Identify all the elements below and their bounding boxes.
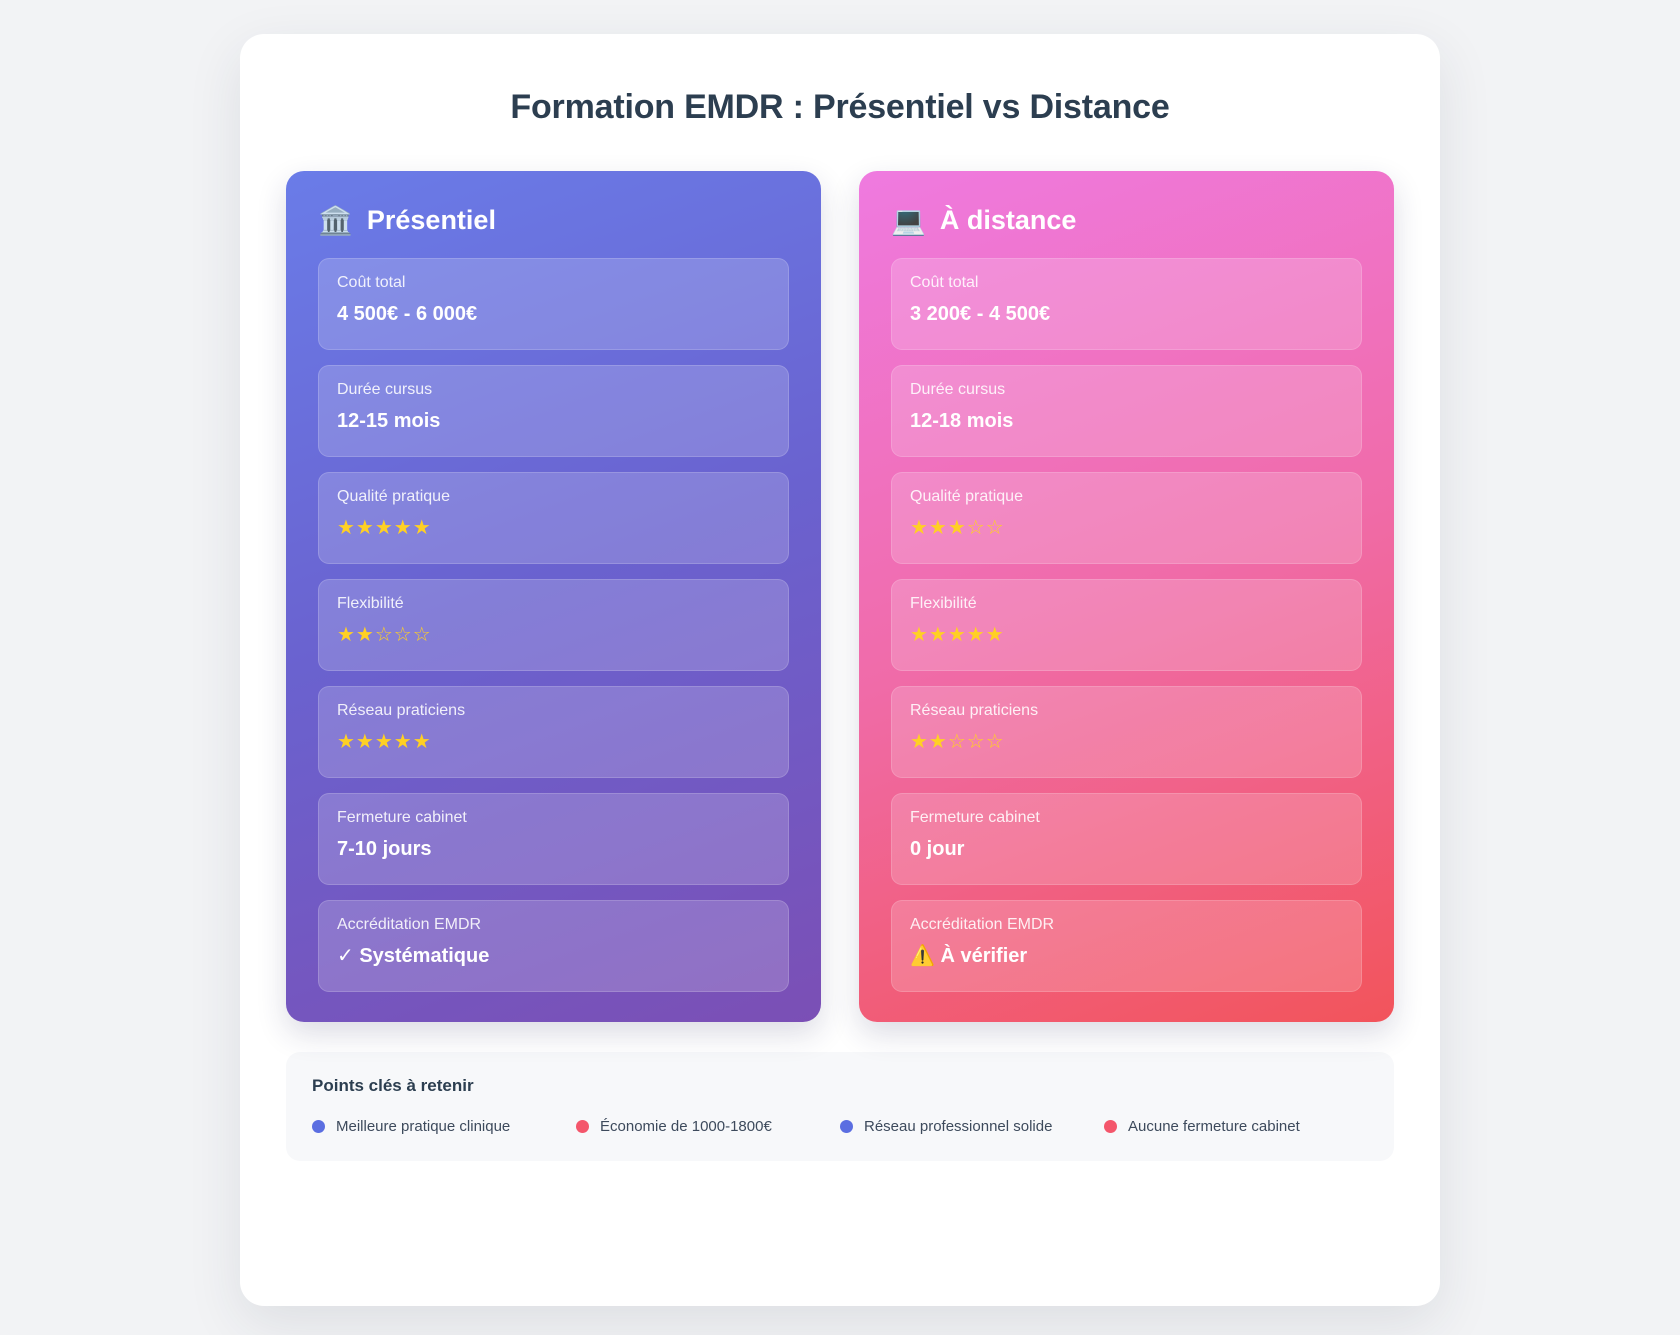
column-header-presentiel: 🏛️ Présentiel	[318, 205, 789, 236]
row-label: Fermeture cabinet	[910, 808, 1343, 827]
star-rating: ★★★★★	[910, 623, 1343, 647]
comparison-columns: 🏛️ Présentiel Coût total 4 500€ - 6 000€…	[240, 127, 1440, 1022]
comparison-card-panel: Formation EMDR : Présentiel vs Distance …	[240, 34, 1440, 1306]
row-accreditation-emdr-presentiel: Accréditation EMDR ✓ Systématique	[318, 900, 789, 992]
row-value: ✓ Systématique	[337, 944, 770, 968]
row-label: Fermeture cabinet	[337, 808, 770, 827]
row-label: Coût total	[337, 273, 770, 292]
star-rating: ★★★☆☆	[910, 516, 1343, 540]
star-rating: ★★★★★	[337, 730, 770, 754]
row-qualite-pratique-presentiel: Qualité pratique ★★★★★	[318, 472, 789, 564]
column-distance: 💻 À distance Coût total 3 200€ - 4 500€ …	[859, 171, 1394, 1022]
row-value: 12-18 mois	[910, 409, 1343, 433]
key-points-legend: Meilleure pratique clinique Économie de …	[312, 1118, 1368, 1135]
row-reseau-praticiens-distance: Réseau praticiens ★★☆☆☆	[891, 686, 1362, 778]
legend-item: Économie de 1000-1800€	[576, 1118, 840, 1135]
row-fermeture-cabinet-distance: Fermeture cabinet 0 jour	[891, 793, 1362, 885]
legend-label: Aucune fermeture cabinet	[1128, 1118, 1300, 1135]
row-fermeture-cabinet-presentiel: Fermeture cabinet 7-10 jours	[318, 793, 789, 885]
row-value: 0 jour	[910, 837, 1343, 861]
row-duree-cursus-distance: Durée cursus 12-18 mois	[891, 365, 1362, 457]
legend-label: Économie de 1000-1800€	[600, 1118, 772, 1135]
legend-item: Aucune fermeture cabinet	[1104, 1118, 1368, 1135]
row-reseau-praticiens-presentiel: Réseau praticiens ★★★★★	[318, 686, 789, 778]
star-rating: ★★★★★	[337, 516, 770, 540]
row-label: Accréditation EMDR	[910, 915, 1343, 934]
legend-item: Réseau professionnel solide	[840, 1118, 1104, 1135]
column-title-distance: À distance	[940, 205, 1077, 236]
bullet-dot-icon	[840, 1120, 853, 1133]
bullet-dot-icon	[312, 1120, 325, 1133]
legend-label: Réseau professionnel solide	[864, 1118, 1052, 1135]
row-label: Durée cursus	[337, 380, 770, 399]
row-label: Coût total	[910, 273, 1343, 292]
row-duree-cursus-presentiel: Durée cursus 12-15 mois	[318, 365, 789, 457]
row-label: Accréditation EMDR	[337, 915, 770, 934]
column-header-distance: 💻 À distance	[891, 205, 1362, 236]
row-label: Réseau praticiens	[910, 701, 1343, 720]
bullet-dot-icon	[576, 1120, 589, 1133]
classical-building-icon: 🏛️	[318, 207, 353, 235]
row-qualite-pratique-distance: Qualité pratique ★★★☆☆	[891, 472, 1362, 564]
row-value: ⚠️ À vérifier	[910, 944, 1343, 968]
row-value: 12-15 mois	[337, 409, 770, 433]
page-title: Formation EMDR : Présentiel vs Distance	[240, 34, 1440, 127]
row-flexibilite-presentiel: Flexibilité ★★☆☆☆	[318, 579, 789, 671]
row-label: Flexibilité	[337, 594, 770, 613]
column-presentiel: 🏛️ Présentiel Coût total 4 500€ - 6 000€…	[286, 171, 821, 1022]
key-points-panel: Points clés à retenir Meilleure pratique…	[286, 1052, 1394, 1161]
row-label: Qualité pratique	[910, 487, 1343, 506]
legend-label: Meilleure pratique clinique	[336, 1118, 510, 1135]
row-flexibilite-distance: Flexibilité ★★★★★	[891, 579, 1362, 671]
row-label: Durée cursus	[910, 380, 1343, 399]
row-cout-total-presentiel: Coût total 4 500€ - 6 000€	[318, 258, 789, 350]
star-rating: ★★☆☆☆	[910, 730, 1343, 754]
row-value: 3 200€ - 4 500€	[910, 302, 1343, 326]
legend-item: Meilleure pratique clinique	[312, 1118, 576, 1135]
row-cout-total-distance: Coût total 3 200€ - 4 500€	[891, 258, 1362, 350]
row-label: Réseau praticiens	[337, 701, 770, 720]
row-value: 7-10 jours	[337, 837, 770, 861]
bullet-dot-icon	[1104, 1120, 1117, 1133]
column-title-presentiel: Présentiel	[367, 205, 496, 236]
star-rating: ★★☆☆☆	[337, 623, 770, 647]
laptop-icon: 💻	[891, 207, 926, 235]
row-label: Qualité pratique	[337, 487, 770, 506]
row-accreditation-emdr-distance: Accréditation EMDR ⚠️ À vérifier	[891, 900, 1362, 992]
row-value: 4 500€ - 6 000€	[337, 302, 770, 326]
row-label: Flexibilité	[910, 594, 1343, 613]
key-points-title: Points clés à retenir	[312, 1076, 1368, 1096]
